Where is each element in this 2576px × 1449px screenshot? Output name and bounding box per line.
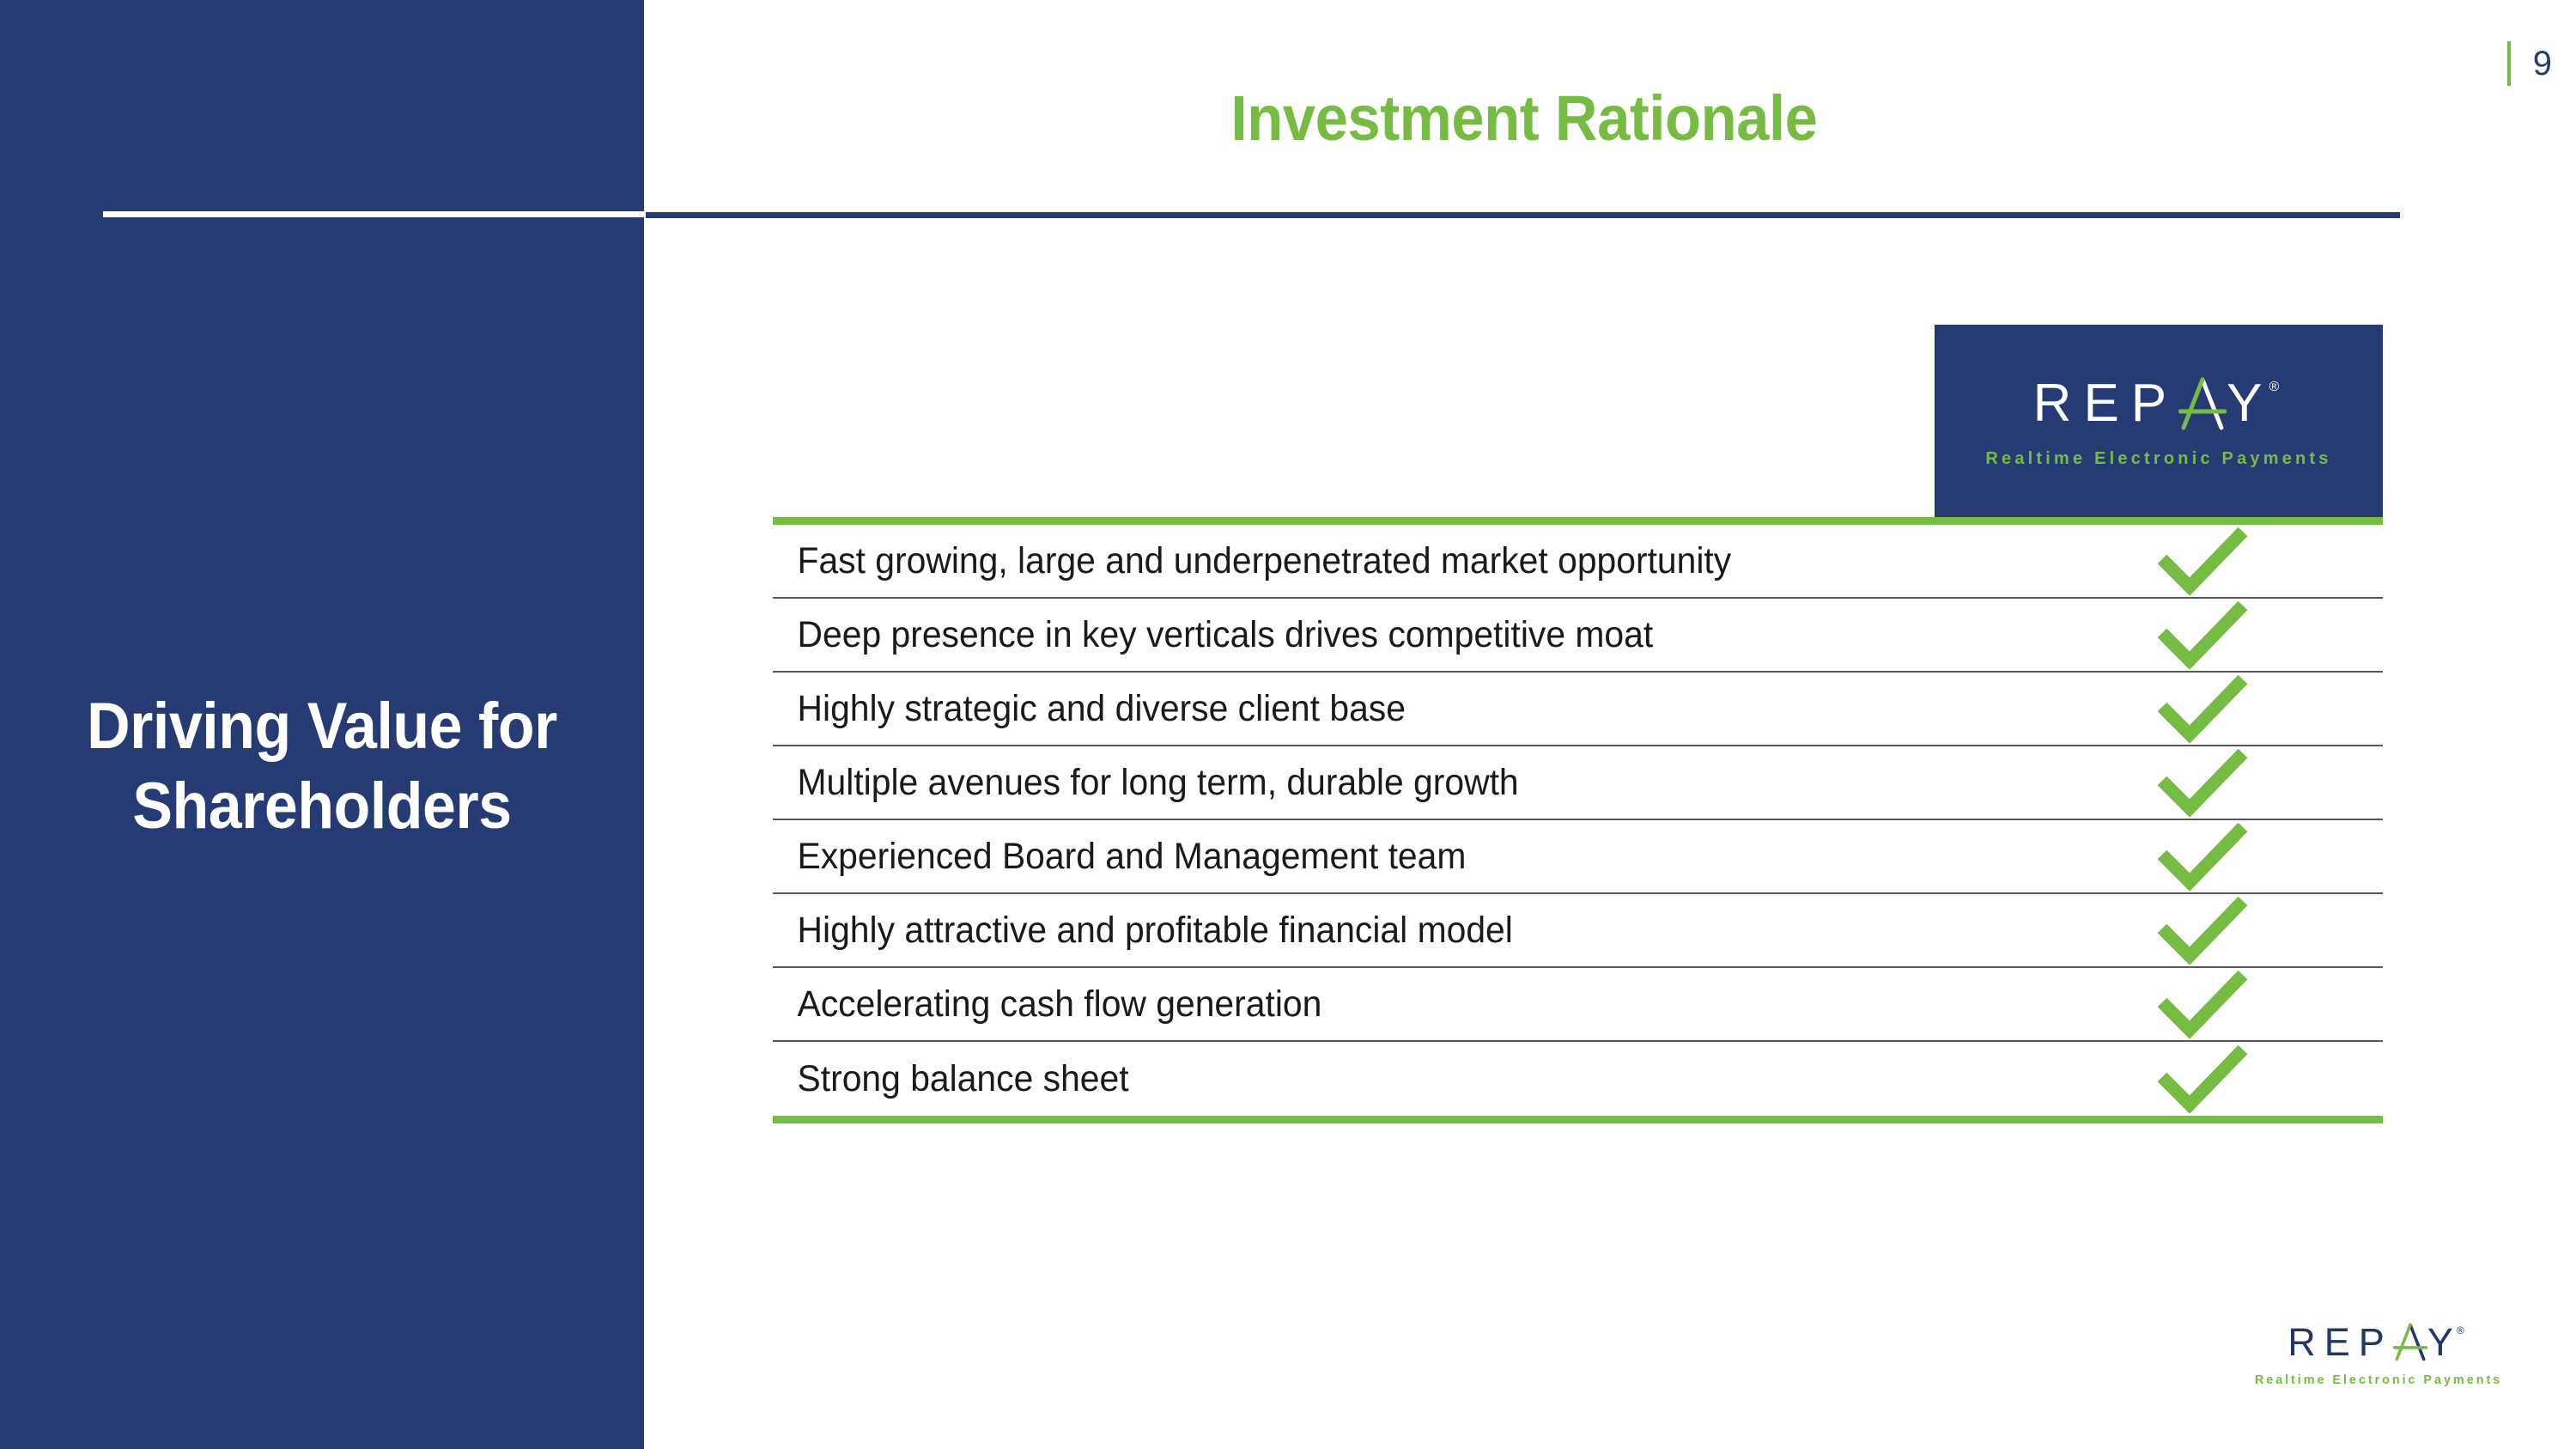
checklist-item-label: Experienced Board and Management team — [773, 836, 1959, 878]
checklist-bottom-rule — [773, 1116, 2383, 1123]
table-row: Fast growing, large and underpenetrated … — [773, 525, 2383, 599]
sidebar-divider-rule — [103, 211, 644, 217]
sidebar-section-title: Driving Value for Shareholders — [58, 687, 586, 846]
checklist-top-rule — [773, 517, 2383, 525]
footer-repay-tagline: Realtime Electronic Payments — [2255, 1373, 2502, 1387]
repay-letters-rep: REP — [2033, 377, 2178, 430]
repay-wordmark: REP Y ® — [2033, 377, 2285, 430]
check-mark-icon — [2022, 600, 2383, 669]
checklist-item-label: Deep presence in key verticals drives co… — [773, 614, 1959, 656]
page-number-accent-bar — [2507, 41, 2511, 86]
table-row: Accelerating cash flow generation — [773, 968, 2383, 1042]
check-mark-icon — [2022, 748, 2383, 817]
repay-logo-card: REP Y ® Realtime Electronic Payments — [1935, 325, 2383, 521]
footer-repay-wordmark: REP Y ® — [2287, 1323, 2469, 1361]
repay-tagline: Realtime Electronic Payments — [1985, 449, 2331, 469]
table-row: Highly strategic and diverse client base — [773, 673, 2383, 746]
repay-letter-a-icon — [2178, 377, 2227, 430]
check-mark-icon — [2022, 896, 2383, 965]
check-mark-icon — [2022, 1044, 2383, 1113]
checklist-item-label: Accelerating cash flow generation — [773, 983, 1959, 1026]
check-mark-icon — [2022, 822, 2383, 891]
check-mark-icon — [2022, 674, 2383, 743]
footer-repay-letters-rep: REP — [2287, 1323, 2393, 1361]
table-row: Deep presence in key verticals drives co… — [773, 599, 2383, 673]
header-divider-rule — [646, 212, 2400, 218]
page-number-group: 9 — [2507, 41, 2552, 86]
check-mark-icon — [2022, 527, 2383, 595]
page-number: 9 — [2533, 46, 2552, 81]
page-title: Investment Rationale — [706, 82, 2343, 155]
table-row: Experienced Board and Management team — [773, 820, 2383, 894]
checklist-item-label: Multiple avenues for long term, durable … — [773, 762, 1959, 804]
footer-repay-letter-a-icon — [2393, 1323, 2427, 1361]
investment-rationale-checklist: Fast growing, large and underpenetrated … — [773, 525, 2383, 1116]
repay-letter-y: Y — [2227, 377, 2274, 430]
footer-repay-trademark-icon: ® — [2457, 1325, 2464, 1336]
checklist-item-label: Highly attractive and profitable financi… — [773, 910, 1959, 952]
check-mark-icon — [2022, 970, 2383, 1038]
checklist-item-label: Strong balance sheet — [773, 1058, 1959, 1100]
checklist-item-label: Fast growing, large and underpenetrated … — [773, 540, 1959, 582]
checklist-item-label: Highly strategic and diverse client base — [773, 688, 1959, 730]
table-row: Multiple avenues for long term, durable … — [773, 746, 2383, 820]
repay-trademark-icon: ® — [2269, 381, 2280, 394]
table-row: Strong balance sheet — [773, 1042, 2383, 1116]
sidebar-panel: Driving Value for Shareholders — [0, 0, 644, 1449]
table-row: Highly attractive and profitable financi… — [773, 894, 2383, 968]
footer-repay-logo: REP Y ® Realtime Electronic Payments — [2233, 1323, 2524, 1387]
